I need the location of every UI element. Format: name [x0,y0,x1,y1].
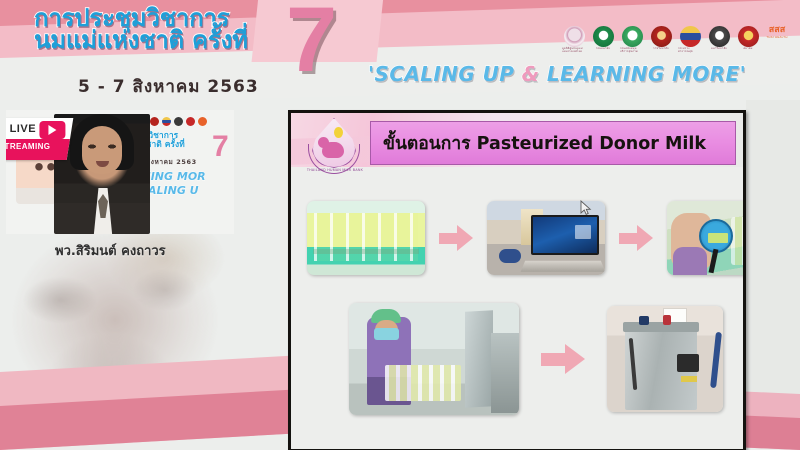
thermometer-dial [699,219,733,253]
process-arrow-1-icon [439,225,473,251]
arrow-head [565,344,585,374]
organization-logo-strip: มูลนิธิศูนย์นมแม่แห่งประเทศไทย กรมอนามัย… [562,26,789,56]
photo-temperature-probe[interactable] [667,201,746,275]
photo-pasteurizer-machine[interactable] [607,306,723,412]
pasteurizer-door [465,310,493,407]
logo-caption: กรมอนามัย [596,48,610,51]
arrow-shaft [619,233,639,244]
speaker-webcam-video[interactable]: การประชุมวิชาการ นมแม่แห่งชาติ ครั้งที่ … [6,110,234,234]
pasteurizer-body [491,333,519,413]
thaihealth-sss-logo: สสสTHAI HEALTH [765,26,789,56]
human-milk-bank-logo: THAILAND HUMAN MILK BANK [304,118,366,178]
droplet-highlight-icon [334,127,343,138]
national-emblem-logo: กระทรวงสาธารณสุข [678,26,702,56]
conference-edition-number: 7 [286,0,337,86]
live-streaming-badge: LIVE STREAMING [6,118,73,160]
conference-header-banner: การประชุมวิชาการ นมแม่แห่งชาติ ครั้งที่ … [0,0,800,100]
live-badge-bottom-label: STREAMING [6,142,50,151]
logo-mark [709,26,730,47]
logo-caption: มหาวิทยาลัย [711,48,727,51]
logo-mark [680,26,701,47]
poster-logo-8-icon [198,117,207,126]
arrow-head [637,225,653,251]
arrow-head [457,225,473,251]
live-badge-top-label: LIVE [10,123,36,135]
background-fill [746,100,800,400]
process-arrow-3-icon [541,344,585,374]
laptop-keyboard [521,261,605,272]
machine-knob-blue [639,316,649,325]
machine-control-panel [677,354,699,372]
poster-logo-6-icon [174,117,183,126]
milk-bank-logo-caption: THAILAND HUMAN MILK BANK [304,168,366,172]
poster-edition-number: 7 [212,132,229,162]
thai-breastfeeding-foundation-logo: มูลนิธิศูนย์นมแม่แห่งประเทศไทย [562,26,586,56]
computer-mouse [499,249,521,263]
bottle-tray [385,365,461,401]
logo-caption: สมาคม [743,48,752,51]
logo-caption: กรมสนับสนุนบริการสุขภาพ [620,48,644,54]
arrow-shaft [439,233,459,244]
mouse-pointer [580,200,592,216]
logo-caption: มูลนิธิศูนย์นมแม่แห่งประเทศไทย [562,48,586,54]
speaker-name-label: พว.สิริมนต์ คงถาวร [55,240,166,261]
conference-title: การประชุมวิชาการ นมแม่แห่งชาติ ครั้งที่ [34,6,294,53]
logo-mark [593,26,614,47]
logo-text: สสส [769,26,785,35]
poster-logo-7-icon [186,117,195,126]
logo-subcaption: THAI HEALTH [766,35,787,39]
face-mask [374,328,399,340]
machine-hose [710,332,722,388]
presentation-slide-panel[interactable]: THAILAND HUMAN MILK BANK ขั้นตอนการ Past… [288,110,746,450]
logo-mark [564,26,585,47]
machine-lid [623,322,699,332]
machine-indicator-light [681,376,697,382]
logo-mark [622,26,643,47]
arrow-shaft [541,353,567,366]
logo-caption: กระทรวงสาธารณสุข [678,48,702,54]
poster-logo-4-icon [150,117,159,126]
slide-title-bar: ขั้นตอนการ Pasteurized Donor Milk [370,121,736,165]
ministry-public-health-logo: กรมอนามัย [591,26,615,56]
process-steps-row-2 [349,303,723,415]
screen-capture: การประชุมวิชาการ นมแม่แห่งชาติ ครั้งที่ … [0,0,800,450]
conference-title-line2: นมแม่แห่งชาติ ครั้งที่ [34,28,294,52]
conference-tagline: 'SCALING UP & LEARNING MORE' [368,62,788,86]
play-icon [39,121,65,139]
royal-college-logo: ราชวิทยาลัย [649,26,673,56]
tagline-ampersand: & [522,62,540,86]
speaker-eyes [86,144,118,149]
red-seal-logo: สมาคม [736,26,760,56]
machine-knob-red [663,315,671,325]
process-steps-row-1 [307,201,746,275]
photo-nurse-loading-pasteurizer[interactable] [349,303,519,415]
photo-milk-bottle-rack[interactable] [307,201,425,275]
milk-bottles-background [731,217,746,265]
logo-caption: ราชวิทยาลัย [653,48,669,51]
tagline-suffix: LEARNING MORE' [540,62,747,86]
logo-mark [651,26,672,47]
department-health-logo: กรมสนับสนุนบริการสุขภาพ [620,26,644,56]
slide-title: ขั้นตอนการ Pasteurized Donor Milk [383,129,706,157]
gloved-arm [673,247,707,275]
tagline-prefix: 'SCALING UP [368,62,522,86]
poster-logo-5-icon [162,117,171,126]
logo-mark [738,26,759,47]
process-arrow-2-icon [619,225,653,251]
conference-dates: 5 - 7 สิงหาคม 2563 [78,73,259,100]
laptop-screen [531,215,599,255]
university-seal-logo: มหาวิทยาลัย [707,26,731,56]
